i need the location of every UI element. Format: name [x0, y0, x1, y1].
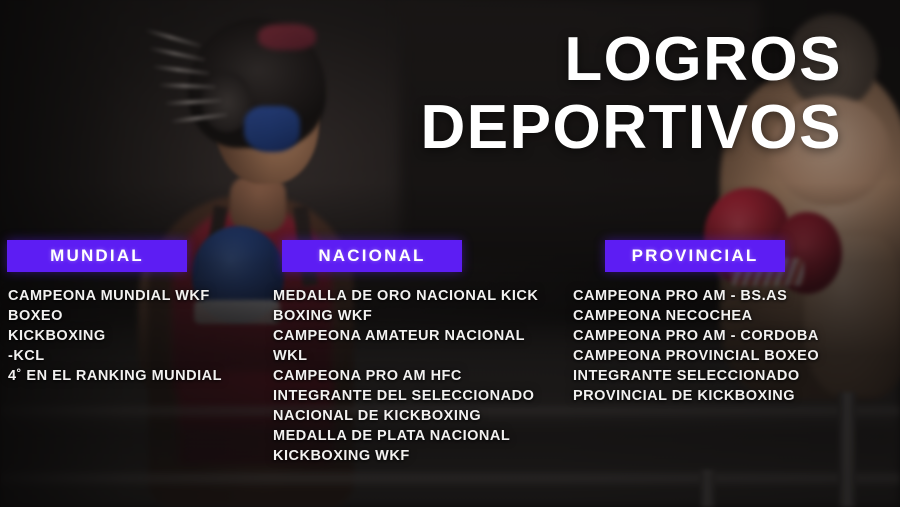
list-item: CAMPEONA MUNDIAL WKF: [8, 286, 269, 306]
column-nacional: NACIONAL MEDALLA DE ORO NACIONAL KICK BO…: [272, 240, 568, 466]
list-item: PROVINCIAL DE KICKBOXING: [573, 386, 893, 406]
list-item: CAMPEONA PROVINCIAL BOXEO: [573, 346, 893, 366]
page-title: LOGROS DEPORTIVOS: [380, 26, 842, 162]
badge-mundial: MUNDIAL: [7, 240, 187, 272]
list-item: INTEGRANTE DEL SELECCIONADO: [273, 386, 568, 406]
list-item: KICKBOXING: [8, 326, 269, 346]
page-title-line-1: LOGROS: [380, 26, 842, 94]
list-item: MEDALLA DE PLATA NACIONAL: [273, 426, 568, 446]
list-item: CAMPEONA PRO AM - CORDOBA: [573, 326, 893, 346]
list-item: BOXING WKF: [273, 306, 568, 326]
slide-content: LOGROS DEPORTIVOS MUNDIAL CAMPEONA MUNDI…: [0, 0, 900, 507]
list-item: BOXEO: [8, 306, 269, 326]
slide-root: LOGROS DEPORTIVOS MUNDIAL CAMPEONA MUNDI…: [0, 0, 900, 507]
list-item: INTEGRANTE SELECCIONADO: [573, 366, 893, 386]
achievement-list-nacional: MEDALLA DE ORO NACIONAL KICK BOXING WKF …: [273, 286, 568, 466]
list-item: CAMPEONA PRO AM - BS.AS: [573, 286, 893, 306]
page-title-line-2: DEPORTIVOS: [380, 94, 842, 162]
column-provincial: PROVINCIAL CAMPEONA PRO AM - BS.AS CAMPE…: [573, 240, 893, 406]
list-item: WKL: [273, 346, 568, 366]
list-item: -KCL: [8, 346, 269, 366]
list-item: KICKBOXING WKF: [273, 446, 568, 466]
achievement-list-provincial: CAMPEONA PRO AM - BS.AS CAMPEONA NECOCHE…: [573, 286, 893, 406]
list-item: CAMPEONA PRO AM HFC: [273, 366, 568, 386]
list-item: 4˚ EN EL RANKING MUNDIAL: [8, 366, 269, 386]
achievements-columns: MUNDIAL CAMPEONA MUNDIAL WKF BOXEO KICKB…: [0, 240, 900, 507]
achievement-list-mundial: CAMPEONA MUNDIAL WKF BOXEO KICKBOXING -K…: [8, 286, 269, 386]
badge-provincial: PROVINCIAL: [605, 240, 785, 272]
badge-nacional: NACIONAL: [282, 240, 462, 272]
list-item: CAMPEONA AMATEUR NACIONAL: [273, 326, 568, 346]
list-item: MEDALLA DE ORO NACIONAL KICK: [273, 286, 568, 306]
list-item: CAMPEONA NECOCHEA: [573, 306, 893, 326]
list-item: NACIONAL DE KICKBOXING: [273, 406, 568, 426]
column-mundial: MUNDIAL CAMPEONA MUNDIAL WKF BOXEO KICKB…: [7, 240, 269, 386]
